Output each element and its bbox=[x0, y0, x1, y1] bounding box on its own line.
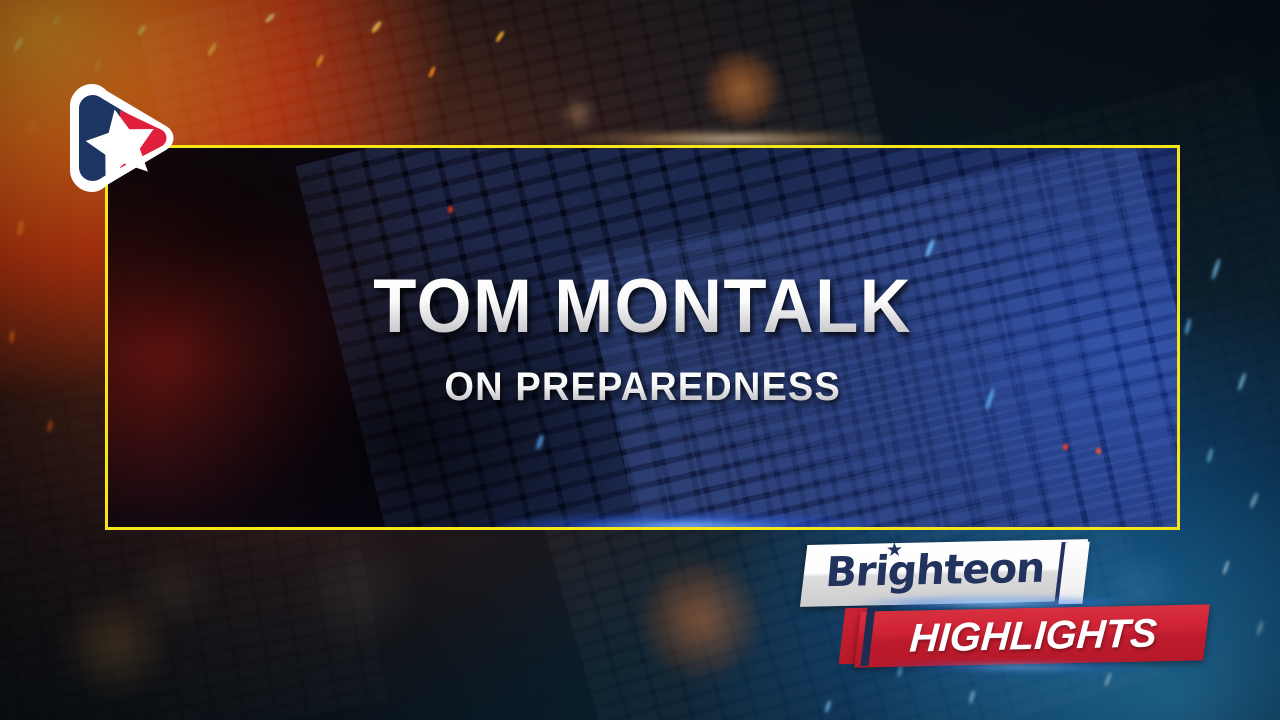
guest-name: TOM MONTALK bbox=[373, 269, 912, 345]
banner-glow bbox=[830, 658, 1210, 676]
brighteon-star-icon: ★ bbox=[886, 543, 901, 558]
brighteon-play-logo-icon bbox=[58, 74, 186, 202]
video-frame: TOM MONTALK ON PREPAREDNESS Brighteon ★ … bbox=[0, 0, 1280, 720]
title-block: TOM MONTALK ON PREPAREDNESS bbox=[105, 145, 1180, 530]
brighteon-play-logo[interactable] bbox=[58, 74, 186, 202]
brighteon-wordmark: Brighteon bbox=[824, 548, 1046, 594]
program-wordmark: HIGHLIGHTS bbox=[908, 613, 1158, 658]
topic-subtitle: ON PREPAREDNESS bbox=[444, 367, 840, 407]
lower-third-banner: Brighteon ★ HIGHLIGHTS bbox=[790, 530, 1220, 670]
